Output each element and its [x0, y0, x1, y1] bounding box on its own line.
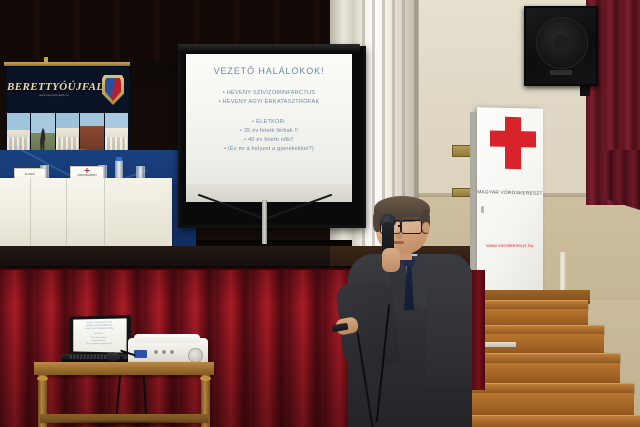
- town-banner-url: www.berettyoujfalu.hu: [7, 94, 101, 97]
- red-cross-icon: [85, 168, 90, 173]
- name-card-2-text: VÖRÖSKERESZT: [71, 174, 103, 177]
- banner-hook: [44, 57, 48, 64]
- eyeglasses-right-lens: [401, 220, 422, 234]
- water-bottle: [115, 160, 123, 179]
- projector-top-panel: [134, 334, 200, 343]
- tripod-post: [262, 200, 267, 244]
- equipment-table: [34, 362, 214, 427]
- table-floor-shadow: [30, 420, 220, 427]
- presenter: [330, 196, 480, 427]
- slide-bullet-4: • 40 év feletti nők!!: [186, 137, 352, 143]
- laptop-slide-line-3: ÉLETKOR:: [73, 333, 126, 335]
- town-banner-title: BERETTYÓÚJFALU: [7, 81, 101, 93]
- presenter-brow-right: [402, 217, 419, 219]
- laptop-slide-line-4: 35 év feletti férfiak !!: [73, 337, 126, 339]
- projector-lens-icon: [188, 348, 203, 363]
- water-bottle-cap: [116, 157, 122, 161]
- eyeglasses-bridge: [398, 225, 402, 227]
- laptop-slide-line-6: (És mi a helyzet a gyerekekkel?): [73, 343, 126, 346]
- redcross-banner-url: www.voroskereszt.hu: [477, 243, 543, 248]
- red-cross-horizontal-bar: [490, 130, 536, 147]
- speaker-logo: [550, 70, 572, 75]
- slide-bullet-5: • (És mi a helyzet a gyerekekkel?): [186, 146, 352, 152]
- presenter-right-arm: [426, 268, 472, 388]
- slide-content: VEZETŐ HALÁLOKOK! • HEVENY SZÍVIZOMINFAR…: [186, 54, 352, 184]
- equipment-table-top: [34, 362, 214, 375]
- presenter-nose: [396, 229, 403, 239]
- slide-title: VEZETŐ HALÁLOKOK!: [186, 66, 352, 76]
- presenter-hand-holding-microphone: [382, 248, 400, 272]
- slide-bullet-3: • 35 év feletti férfiak !!: [186, 128, 352, 134]
- photo-scene: BERETTYÓÚJFALU www.berettyoujfalu.hu: [0, 0, 640, 427]
- speaker-dustcap: [553, 34, 569, 50]
- slide-section-heading: • ÉLETKOR:: [186, 119, 352, 125]
- laptop-slide-line-5: 40 év feletti nők!!: [73, 340, 126, 342]
- laptop[interactable]: VEZETŐ HALÁLOKOK! HEVENY SZÍVIZOMINFARCT…: [62, 316, 138, 364]
- door-handle: [481, 206, 484, 213]
- stage-stairs: [470, 300, 640, 427]
- laptop-screen: VEZETŐ HALÁLOKOK! HEVENY SZÍVIZOMINFARCT…: [73, 318, 126, 352]
- wall-loudspeaker: [524, 6, 598, 86]
- name-card-1-text: ELŐADÓ: [15, 173, 45, 176]
- presenter-ear: [422, 222, 430, 233]
- computer-mouse[interactable]: [106, 352, 120, 361]
- projection-screen-roller: [178, 44, 360, 52]
- slide-bullet-1: • HEVENY SZÍVIZOMINFARCTUS: [186, 90, 352, 96]
- laptop-slide-line-2: HEVENY AGYI ÉRKATASZTRÓFÁK: [73, 328, 126, 330]
- projector-vga-port: [134, 350, 147, 358]
